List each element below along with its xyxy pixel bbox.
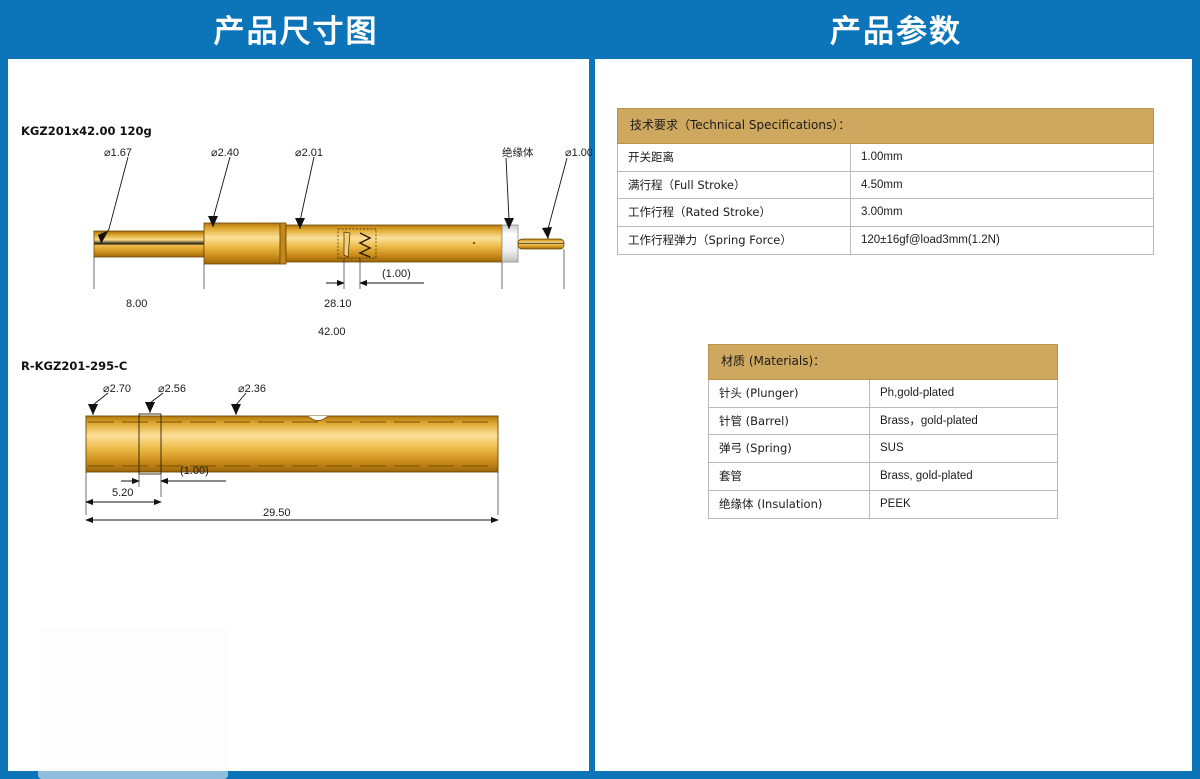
spec-value-rated-stroke: 3.00mm: [851, 199, 1154, 227]
left-panel-content: KGZ201x42.00 120g ⌀1.67 ⌀2.40 ⌀2.01 绝缘体 …: [8, 59, 589, 771]
material-key-barrel: 针管 (Barrel): [709, 407, 870, 435]
table-row: 开关距离 1.00mm: [618, 143, 1154, 171]
spec-key-spring-force: 工作行程弹力（Spring Force）: [618, 227, 851, 255]
material-value-sleeve: Brass, gold-plated: [870, 463, 1058, 491]
spec-value-spring-force: 120±16gf@load3mm(1.2N): [851, 227, 1154, 255]
callout-d201: ⌀2.01: [295, 146, 323, 159]
table-row: 工作行程弹力（Spring Force） 120±16gf@load3mm(1.…: [618, 227, 1154, 255]
spec-key-full-stroke: 满行程（Full Stroke）: [618, 171, 851, 199]
technical-table-header: 技术要求（Technical Specifications）：: [618, 109, 1154, 144]
part-number-2: R-KGZ201-295-C: [21, 359, 127, 373]
table-row: 绝缘体 (Insulation) PEEK: [709, 491, 1058, 519]
dim2-5p20: 5.20: [112, 487, 133, 499]
table-row: 针头 (Plunger) Ph,gold-plated: [709, 379, 1058, 407]
table-row: 满行程（Full Stroke） 4.50mm: [618, 171, 1154, 199]
parameters-panel: 产品参数 技术要求（Technical Specifications）： 开关距…: [592, 0, 1200, 779]
part-number-1: KGZ201x42.00 120g: [21, 124, 152, 138]
material-value-spring: SUS: [870, 435, 1058, 463]
watermark: [38, 629, 228, 779]
spec-value-full-stroke: 4.50mm: [851, 171, 1154, 199]
left-panel-title: 产品尺寸图: [0, 0, 592, 56]
material-key-sleeve: 套管: [709, 463, 870, 491]
right-panel-content: 技术要求（Technical Specifications）： 开关距离 1.0…: [595, 59, 1192, 771]
technical-specifications-table: 技术要求（Technical Specifications）： 开关距离 1.0…: [617, 108, 1154, 255]
table-header-row: 材质 (Materials)：: [709, 345, 1058, 380]
spec-key-switch-distance: 开关距离: [618, 143, 851, 171]
callout-d100: ⌀1.00: [565, 146, 593, 159]
drawing-rkgz201: R-KGZ201-295-C ⌀2.70 ⌀2.56 ⌀2.36 (1.00) …: [8, 297, 592, 527]
callout-d236: ⌀2.36: [238, 382, 266, 395]
material-value-plunger: Ph,gold-plated: [870, 379, 1058, 407]
spec-key-rated-stroke: 工作行程（Rated Stroke）: [618, 199, 851, 227]
dimension-drawing-panel: 产品尺寸图 KGZ201x42.00 120g ⌀1.67 ⌀2.40 ⌀2.0…: [0, 0, 592, 779]
material-key-spring: 弹弓 (Spring): [709, 435, 870, 463]
materials-table-header: 材质 (Materials)：: [709, 345, 1058, 380]
material-value-insulation: PEEK: [870, 491, 1058, 519]
table-row: 弹弓 (Spring) SUS: [709, 435, 1058, 463]
dim2-29p50: 29.50: [263, 507, 291, 519]
table-row: 针管 (Barrel) Brass，gold-plated: [709, 407, 1058, 435]
material-key-plunger: 针头 (Plunger): [709, 379, 870, 407]
callout-d167: ⌀1.67: [104, 146, 132, 159]
callout-d256: ⌀2.56: [158, 382, 186, 395]
callout-d270: ⌀2.70: [103, 382, 131, 395]
materials-table: 材质 (Materials)： 针头 (Plunger) Ph,gold-pla…: [708, 344, 1058, 519]
right-panel-title: 产品参数: [592, 0, 1200, 56]
dim-1p00-upper: (1.00): [382, 268, 411, 280]
product-spec-sheet: 产品尺寸图 KGZ201x42.00 120g ⌀1.67 ⌀2.40 ⌀2.0…: [0, 0, 1200, 779]
right-panel-frame: 技术要求（Technical Specifications）： 开关距离 1.0…: [592, 56, 1200, 779]
table-header-row: 技术要求（Technical Specifications）：: [618, 109, 1154, 144]
material-key-insulation: 绝缘体 (Insulation): [709, 491, 870, 519]
spec-value-switch-distance: 1.00mm: [851, 143, 1154, 171]
material-value-barrel: Brass，gold-plated: [870, 407, 1058, 435]
drawing-kgz201: KGZ201x42.00 120g ⌀1.67 ⌀2.40 ⌀2.01 绝缘体 …: [8, 59, 592, 289]
callout-insulation: 绝缘体: [502, 145, 534, 160]
callout-d240: ⌀2.40: [211, 146, 239, 159]
table-row: 工作行程（Rated Stroke） 3.00mm: [618, 199, 1154, 227]
dim2-1p00: (1.00): [180, 465, 209, 477]
drawing-2-graphics: [8, 297, 592, 527]
drawing-1-graphics: [8, 59, 592, 289]
table-row: 套管 Brass, gold-plated: [709, 463, 1058, 491]
left-panel-frame: KGZ201x42.00 120g ⌀1.67 ⌀2.40 ⌀2.01 绝缘体 …: [0, 56, 592, 779]
